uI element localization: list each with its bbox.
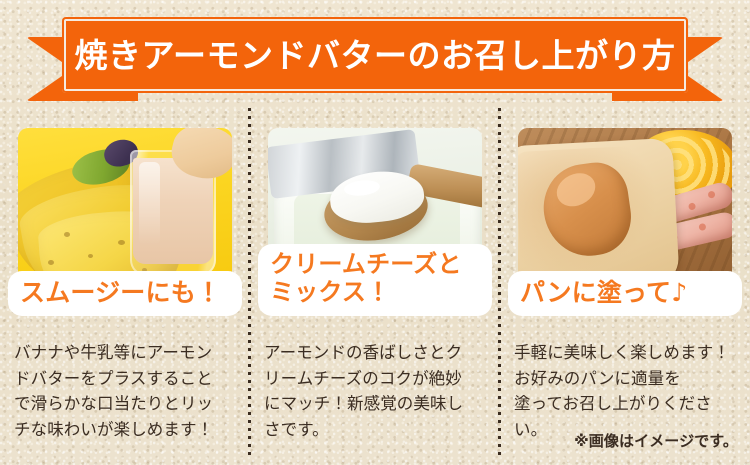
heading-label-cream-cheese: クリームチーズと ミックス！ <box>258 244 492 316</box>
image-disclaimer: ※画像はイメージです。 <box>574 430 738 451</box>
heading-text: スムージーにも！ <box>20 278 230 307</box>
header-ribbon: 焼きアーモンドバターのお召し上がり方 <box>0 17 750 101</box>
usage-card-cream-cheese: クリームチーズと ミックス！ アーモンドの香ばしさとク リームチーズのコクが絶妙… <box>250 104 500 465</box>
body-text-toast: 手軽に美味しく楽しめます！ お好みのパンに適量を 塗ってお召し上がりください。 <box>514 340 740 442</box>
body-text-smoothie: バナナや牛乳等にアーモン ドバターをプラスすること で滑らかな口当たりとリッ チ… <box>14 340 240 442</box>
promo-banner-page: 焼きアーモンドバターのお召し上がり方 <box>0 0 750 465</box>
heading-text: クリームチーズと ミックス！ <box>270 251 480 307</box>
usage-card-toast: パンに塗って♪ 手軽に美味しく楽しめます！ お好みのパンに適量を 塗ってお召し上… <box>500 104 750 465</box>
heading-text: パンに塗って♪ <box>520 278 730 307</box>
column-divider <box>248 108 251 460</box>
banana-smoothie-photo <box>18 128 232 288</box>
column-divider <box>498 108 501 460</box>
body-text-cream-cheese: アーモンドの香ばしさとク リームチーズのコクが絶妙 にマッチ！新感覚の美味し さ… <box>264 340 490 442</box>
heading-label-toast: パンに塗って♪ <box>508 271 742 316</box>
toast-photo <box>518 128 732 288</box>
page-title: 焼きアーモンドバターのお召し上がり方 <box>74 39 675 72</box>
usage-card-smoothie: スムージーにも！ バナナや牛乳等にアーモン ドバターをプラスすること で滑らかな… <box>0 104 250 465</box>
heading-label-smoothie: スムージーにも！ <box>8 271 242 316</box>
ribbon-body: 焼きアーモンドバターのお召し上がり方 <box>62 17 688 93</box>
usage-columns: スムージーにも！ バナナや牛乳等にアーモン ドバターをプラスすること で滑らかな… <box>0 104 750 465</box>
